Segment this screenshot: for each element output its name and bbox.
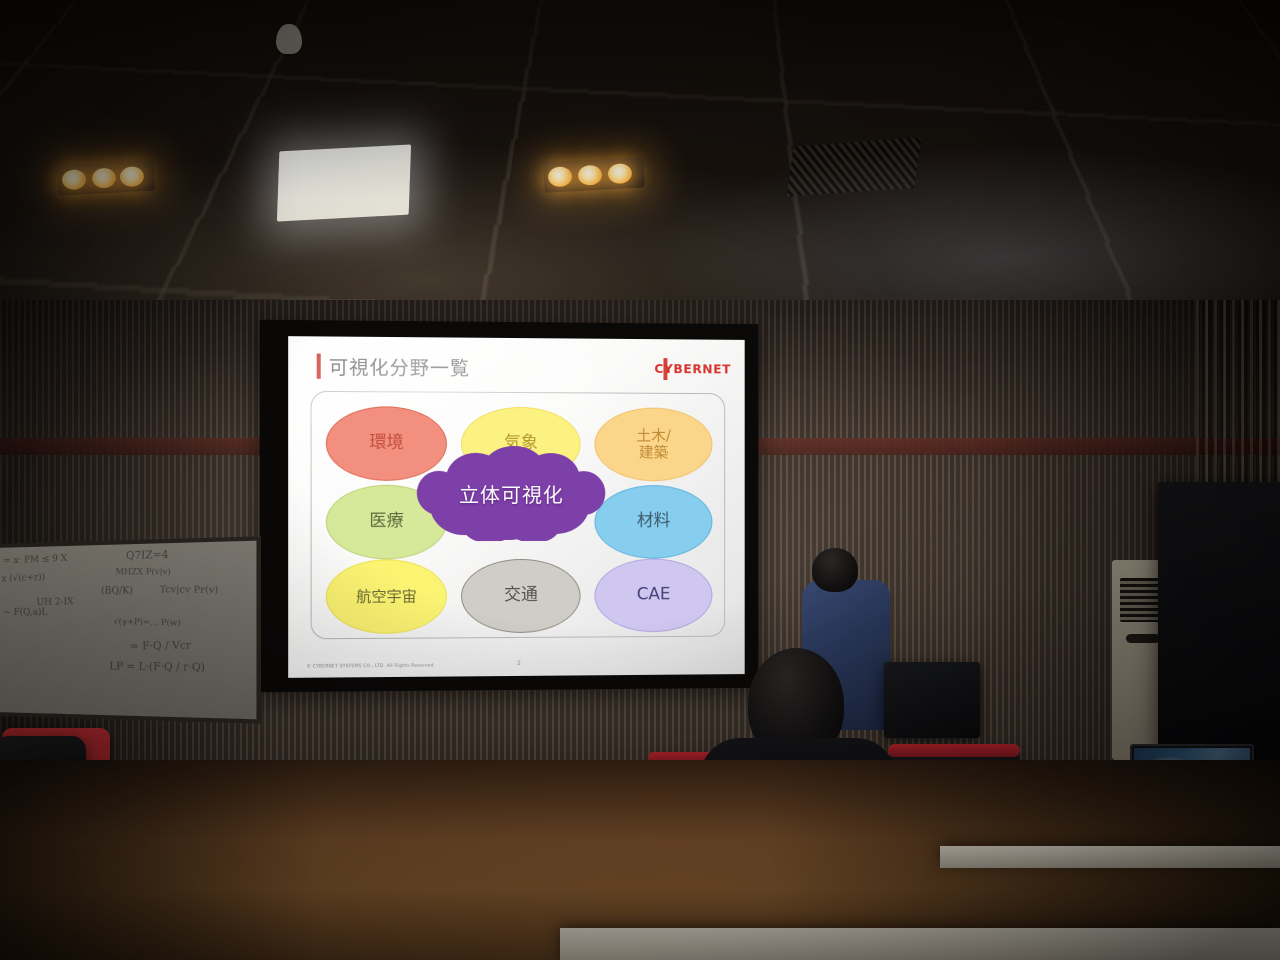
whiteboard-note: = F·Q / Vcr xyxy=(130,640,191,653)
field-bubble: 材料 xyxy=(594,485,712,559)
cybernet-logo: CYBERNET xyxy=(654,361,731,376)
ac-handle-icon xyxy=(1126,634,1160,643)
lecture-hall-scene: 可視化分野一覧 CYBERNET 環境気象土木/ 建築医療材料航空宇宙交通CAE xyxy=(0,0,1280,960)
slide-page-number: 2 xyxy=(517,660,521,667)
slide-header: 可視化分野一覧 CYBERNET xyxy=(288,352,745,385)
whiteboard-note: = x· PM ≤ 9 X xyxy=(4,553,68,566)
presentation-monitor xyxy=(884,662,980,738)
field-bubble: CAE xyxy=(594,558,712,632)
slide-title: 可視化分野一覧 xyxy=(329,353,470,381)
field-bubble-label: 航空宇宙 xyxy=(356,588,417,605)
large-display-panel xyxy=(1158,482,1280,782)
foreground-desk-right xyxy=(940,846,1280,868)
whiteboard-note: UH 2-IX xyxy=(37,597,74,608)
presentation-slide: 可視化分野一覧 CYBERNET 環境気象土木/ 建築医療材料航空宇宙交通CAE xyxy=(288,336,745,678)
whiteboard-note: Q7IZ=4 xyxy=(126,549,169,562)
slide-footer: © CYBERNET SYSTEMS CO., LTD. All Rights … xyxy=(307,664,435,670)
whiteboard-note: ~ F(Q,a)L xyxy=(4,608,48,618)
whiteboard-note: √(γ+P)=... P(w) xyxy=(113,617,180,628)
field-bubble-label: 環境 xyxy=(369,434,403,453)
foreground-desk xyxy=(560,928,1280,960)
whiteboard-note: Tcv|cv Pr(v) xyxy=(160,585,219,596)
whiteboard: = x· PM ≤ 9 XQ7IZ=4MHZX P(v|v)x (√(c+r))… xyxy=(0,536,261,724)
field-bubble: 土木/ 建築 xyxy=(594,407,712,481)
field-bubble-label: 土木/ 建築 xyxy=(636,428,670,461)
field-bubble: 交通 xyxy=(461,559,581,633)
seat-rim xyxy=(888,744,1020,757)
ceiling xyxy=(0,0,1280,330)
projection-screen: 可視化分野一覧 CYBERNET 環境気象土木/ 建築医療材料航空宇宙交通CAE xyxy=(260,320,759,693)
field-bubble-label: CAE xyxy=(637,586,671,605)
window-curtain xyxy=(1196,300,1280,500)
center-cloud-label: 立体可視化 xyxy=(414,445,608,541)
field-bubble: 航空宇宙 xyxy=(326,559,447,634)
ceiling-shading xyxy=(0,0,1280,330)
field-bubble-label: 交通 xyxy=(504,586,538,605)
title-accent-bar-icon xyxy=(317,354,321,379)
whiteboard-note: MHZX P(v|v) xyxy=(115,567,170,577)
whiteboard-note: LP = L·(F·Q / r·Q) xyxy=(109,661,205,674)
field-bubble-label: 医療 xyxy=(369,513,403,532)
whiteboard-note: (BQ/K) xyxy=(101,586,133,597)
center-cloud: 立体可視化 xyxy=(414,445,608,541)
field-bubble-label: 材料 xyxy=(637,512,670,531)
whiteboard-note: x (√(c+r)) xyxy=(2,573,46,585)
presenter-head xyxy=(812,548,858,592)
